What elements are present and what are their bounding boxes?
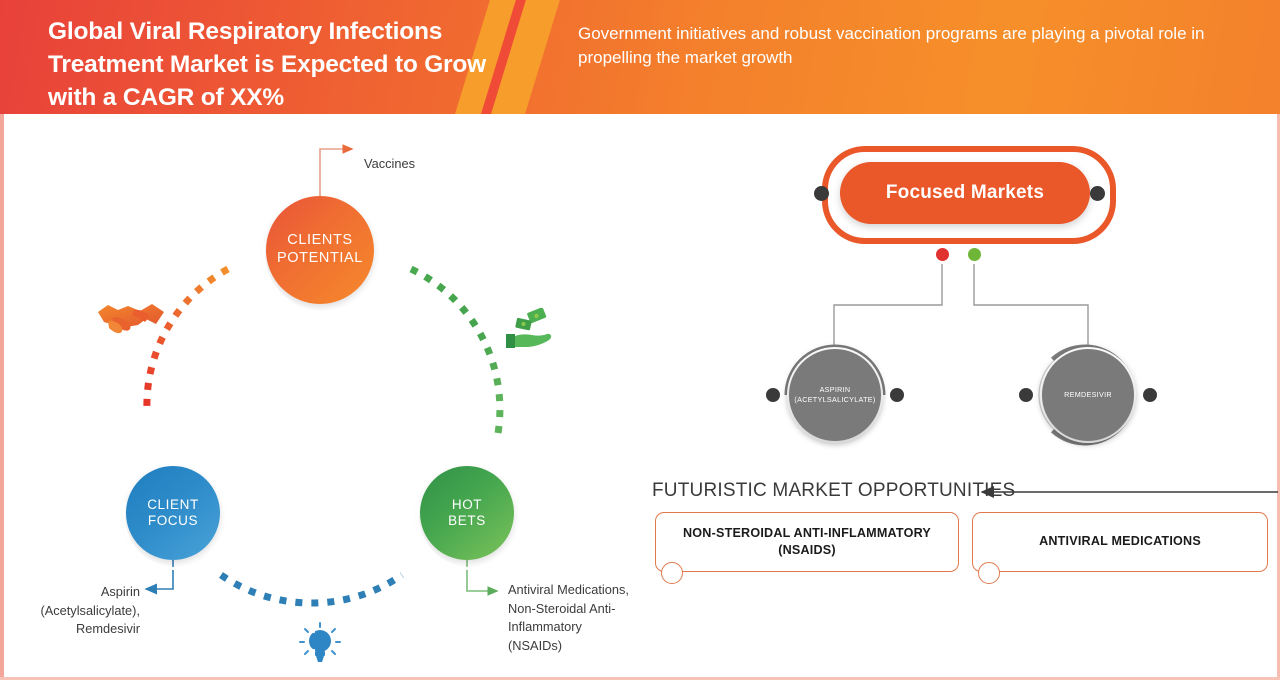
bubble-client-focus[interactable]: CLIENT FOCUS	[126, 466, 220, 560]
bubble-clients-potential-line2: POTENTIAL	[277, 250, 363, 268]
signal-dot-red	[936, 248, 949, 261]
node-aspirin-core: ASPIRIN (ACETYLSALICYLATE)	[789, 349, 881, 441]
bubble-client-focus-line2: FOCUS	[147, 513, 199, 529]
callout-hot-bets: Antiviral Medications, Non-Steroidal Ant…	[508, 581, 638, 655]
node-aspirin-dot-right	[890, 388, 904, 402]
bubble-clients-potential-line1: CLIENTS	[277, 232, 363, 250]
node-aspirin-line1: ASPIRIN	[794, 385, 875, 395]
node-aspirin-dot-left	[766, 388, 780, 402]
leader-line-client-focus	[146, 560, 173, 589]
node-remdesivir-dot-left	[1019, 388, 1033, 402]
bubble-clients-potential[interactable]: CLIENTS POTENTIAL	[266, 196, 374, 304]
leader-line-vaccines	[320, 149, 352, 196]
opportunity-box-antiviral[interactable]: ANTIVIRAL MEDICATIONS	[972, 512, 1268, 572]
signal-dot-green	[968, 248, 981, 261]
callout-vaccines: Vaccines	[364, 155, 415, 174]
node-remdesivir-line1: REMDESIVIR	[1064, 390, 1112, 400]
bubble-hot-bets-line2: BETS	[448, 513, 486, 529]
page-title: Global Viral Respiratory Infections Trea…	[48, 16, 508, 114]
opportunity-box-nsaids[interactable]: NON-STEROIDAL ANTI-INFLAMMATORY (NSAIDS)	[655, 512, 959, 572]
bubble-hot-bets-line1: HOT	[448, 497, 486, 513]
bubble-client-focus-line1: CLIENT	[147, 497, 199, 513]
focused-markets-dot-right	[1090, 186, 1105, 201]
lightbulb-icon	[298, 622, 342, 668]
focused-markets-dot-left	[814, 186, 829, 201]
opportunity-knob-antiviral	[978, 562, 1000, 584]
arc-dotted-green	[411, 269, 500, 439]
node-remdesivir-core: REMDESIVIR	[1042, 349, 1134, 441]
header-subtitle: Government initiatives and robust vaccin…	[578, 22, 1218, 70]
bubble-hot-bets[interactable]: HOT BETS	[420, 466, 514, 560]
opportunity-knob-nsaids	[661, 562, 683, 584]
header-banner: Global Viral Respiratory Infections Trea…	[0, 0, 1280, 114]
futuristic-opportunities-arrow	[970, 482, 1280, 502]
focused-markets-button[interactable]: Focused Markets	[840, 162, 1090, 224]
leader-line-hot-bets	[467, 560, 497, 591]
infographic-root: Global Viral Respiratory Infections Trea…	[0, 0, 1280, 680]
futuristic-opportunities-title: FUTURISTIC MARKET OPPORTUNITIES	[652, 480, 1015, 502]
hand-money-icon	[506, 308, 554, 354]
node-aspirin-line2: (ACETYLSALICYLATE)	[794, 395, 875, 405]
callout-client-focus: Aspirin (Acetylsalicylate), Remdesivir	[4, 583, 140, 639]
node-remdesivir[interactable]: REMDESIVIR	[1028, 335, 1148, 455]
node-aspirin[interactable]: ASPIRIN (ACETYLSALICYLATE)	[775, 335, 895, 455]
arc-dotted-blue	[221, 575, 402, 603]
handshake-icon	[96, 294, 166, 342]
node-remdesivir-dot-right	[1143, 388, 1157, 402]
